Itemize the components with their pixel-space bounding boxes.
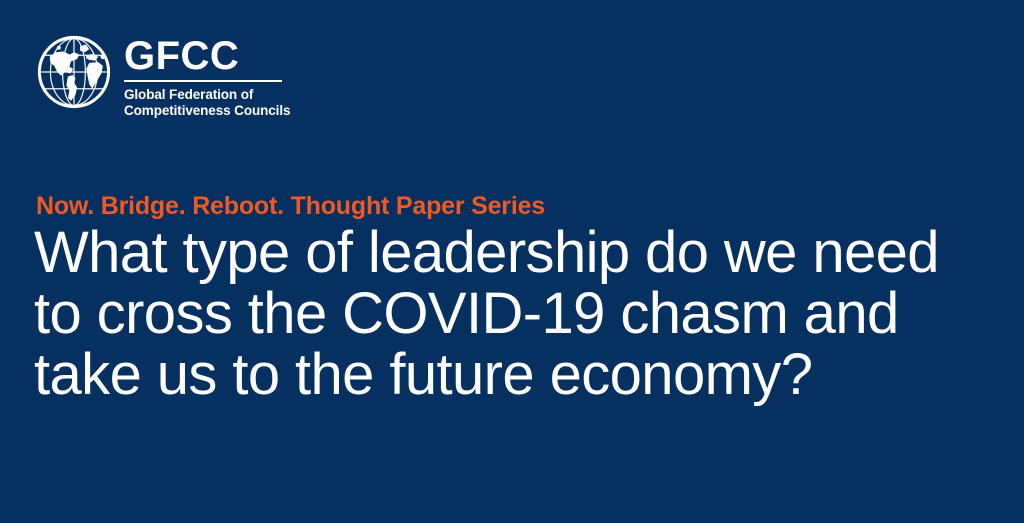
headline-line-1: What type of leadership do we need bbox=[34, 222, 1014, 283]
poster-canvas: GFCC Global Federation of Competitivenes… bbox=[0, 0, 1024, 523]
logo-tagline-line-2: Competitiveness Councils bbox=[124, 103, 290, 119]
series-label: Now. Bridge. Reboot. Thought Paper Serie… bbox=[36, 192, 545, 220]
headline-line-2: to cross the COVID-19 chasm and bbox=[34, 283, 1014, 344]
gfcc-logo: GFCC Global Federation of Competitivenes… bbox=[36, 34, 290, 119]
headline-line-3: take us to the future economy? bbox=[34, 344, 1014, 405]
globe-icon bbox=[36, 34, 112, 110]
logo-divider bbox=[124, 80, 282, 82]
logo-text-block: GFCC Global Federation of Competitivenes… bbox=[124, 34, 290, 119]
logo-wordmark: GFCC bbox=[124, 36, 290, 76]
page-title: What type of leadership do we need to cr… bbox=[34, 222, 1014, 405]
logo-tagline-line-1: Global Federation of bbox=[124, 87, 290, 103]
